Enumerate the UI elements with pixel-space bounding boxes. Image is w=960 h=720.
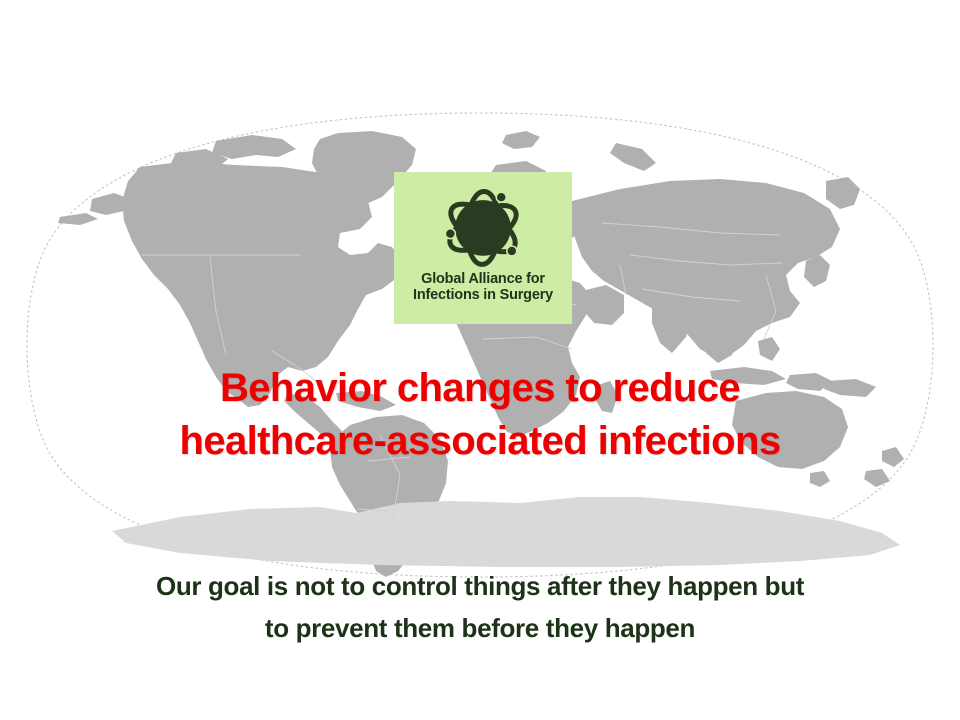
- slide-subtitle: Our goal is not to control things after …: [0, 566, 960, 649]
- slide-title-line-2: healthcare-associated infections: [0, 415, 960, 468]
- emblem-node-3: [507, 246, 517, 256]
- logo-line-1: Global Alliance for: [413, 271, 553, 287]
- logo-line-2: Infections in Surgery: [413, 287, 553, 303]
- slide-subtitle-line-1: Our goal is not to control things after …: [0, 566, 960, 608]
- slide-title-line-1: Behavior changes to reduce: [0, 362, 960, 415]
- slide-canvas: Global Alliance for Infections in Surger…: [0, 0, 960, 720]
- orbiting-sphere-emblem-icon: [435, 178, 531, 274]
- emblem-node-1: [496, 192, 506, 202]
- slide-subtitle-line-2: to prevent them before they happen: [0, 608, 960, 650]
- logo-wordmark: Global Alliance for Infections in Surger…: [413, 271, 553, 303]
- slide-title: Behavior changes to reduce healthcare-as…: [0, 362, 960, 468]
- organization-logo: Global Alliance for Infections in Surger…: [394, 172, 572, 324]
